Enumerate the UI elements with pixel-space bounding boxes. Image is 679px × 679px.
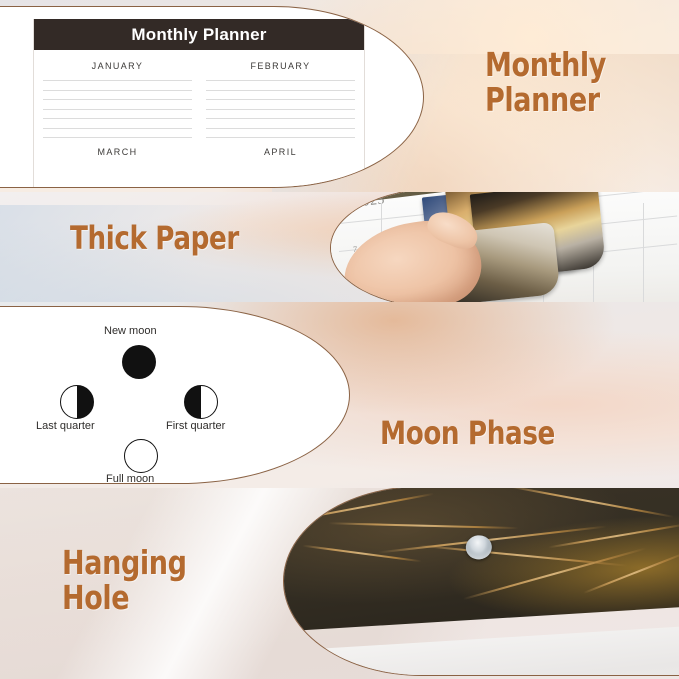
planner-month-label: APRIL [206, 147, 355, 157]
product-feature-infographic: Monthly Planner JANUARY MARCH F [0, 0, 679, 679]
monthly-planner-card: Monthly Planner JANUARY MARCH F [0, 6, 424, 188]
sand-and-grass-photo [283, 488, 679, 631]
grass-blade [419, 545, 628, 567]
grass-blade [328, 522, 518, 529]
planner-rule-line [43, 137, 192, 138]
planner-rule-line [43, 128, 192, 129]
planner-rule-line [43, 80, 192, 81]
thick-paper-photo-card: 2025 7 8 9 14 15 31 [330, 192, 679, 302]
hanging-hole-photo-card [283, 488, 679, 676]
feature-heading-hanging-hole: Hanging Hole [62, 546, 187, 616]
planner-rule-line [206, 137, 355, 138]
planner-column-february: FEBRUARY APRIL [206, 61, 355, 157]
planner-rule-line [43, 99, 192, 100]
planner-rule-line [206, 128, 355, 129]
planner-month-label: MARCH [43, 147, 192, 157]
grass-blade [286, 493, 434, 522]
planner-rule-line [43, 90, 192, 91]
feature-row-monthly-planner: Monthly Planner JANUARY MARCH F [0, 0, 679, 192]
moon-first-quarter-icon [184, 385, 218, 419]
planner-sheet: Monthly Planner JANUARY MARCH F [34, 19, 364, 188]
moon-phase-label-new-moon: New moon [104, 325, 157, 337]
feature-heading-monthly-planner: Monthly Planner [485, 48, 606, 118]
moon-phase-label-full-moon: Full moon [106, 473, 154, 484]
planner-rule-line [206, 118, 355, 119]
feature-heading-thick-paper: Thick Paper [70, 222, 239, 256]
moon-full-icon [124, 439, 158, 473]
planner-month-label: FEBRUARY [206, 61, 355, 71]
planner-rule-line [206, 99, 355, 100]
feature-heading-moon-phase: Moon Phase [380, 417, 555, 451]
feature-row-moon-phase: New moon Last quarter First quarter Full… [0, 302, 679, 488]
planner-rule-line [43, 109, 192, 110]
planner-title: Monthly Planner [34, 19, 364, 50]
planner-rule-line [206, 109, 355, 110]
moon-phase-label-first-quarter: First quarter [166, 420, 225, 432]
feature-row-hanging-hole: Hanging Hole [0, 488, 679, 679]
planner-rule-line [43, 118, 192, 119]
moon-last-quarter-icon [60, 385, 94, 419]
calendar-base-surface [283, 626, 679, 676]
grass-blade [302, 545, 421, 563]
moon-phase-label-last-quarter: Last quarter [36, 420, 95, 432]
calendar-gridline [643, 203, 644, 302]
planner-month-label: JANUARY [43, 61, 192, 71]
planner-column-january: JANUARY MARCH [43, 61, 192, 157]
planner-month-grid: JANUARY MARCH FEBRUARY [34, 50, 364, 157]
planner-rule-line [206, 90, 355, 91]
grass-blade [378, 525, 607, 553]
planner-rule-line [206, 80, 355, 81]
moon-new-icon [122, 345, 156, 379]
grass-blade [583, 552, 679, 594]
grass-blade [548, 523, 679, 548]
grass-blade [463, 547, 647, 600]
grass-blade [506, 488, 674, 518]
feature-row-thick-paper: Thick Paper 2025 7 8 9 14 15 31 [0, 192, 679, 302]
moon-phase-card: New moon Last quarter First quarter Full… [0, 306, 350, 484]
